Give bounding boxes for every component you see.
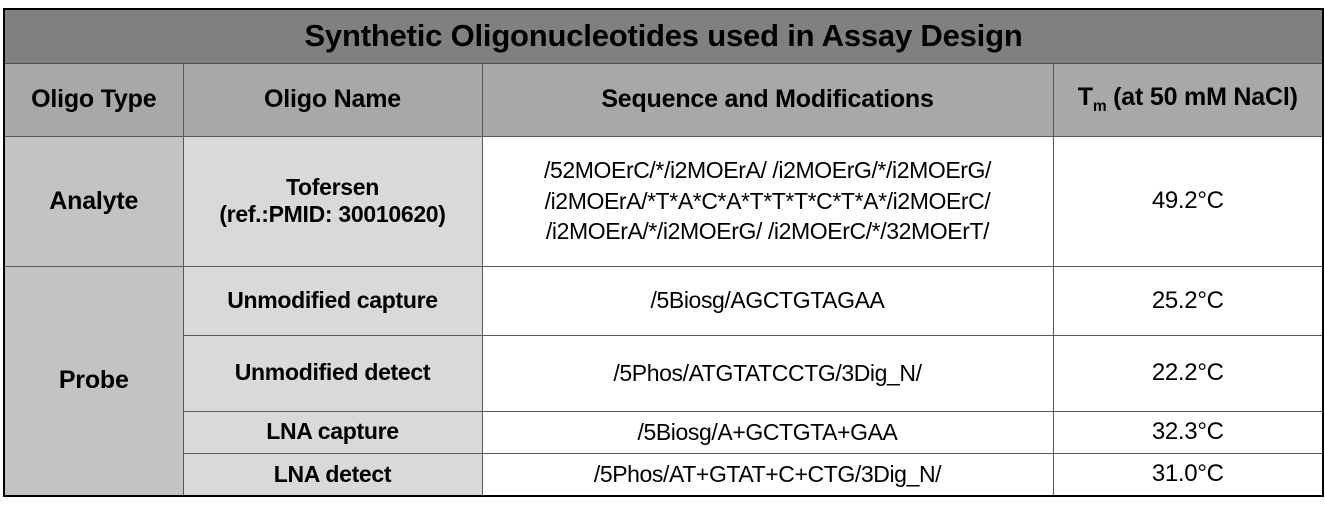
tm-value-lna-detect: 31.0°C <box>1053 453 1323 496</box>
tm-value-unmodified-detect: 22.2°C <box>1053 335 1323 411</box>
oligo-type-analyte: Analyte <box>4 136 183 266</box>
oligo-name-unmodified-capture: Unmodified capture <box>183 266 482 335</box>
table-title: Synthetic Oligonucleotides used in Assay… <box>4 9 1323 63</box>
sequence-lna-capture: /5Biosg/A+GCTGTA+GAA <box>482 411 1053 453</box>
sequence-line-2: /i2MOErA/*T*A*C*A*T*T*T*C*T*A*/i2MOErC/ <box>483 186 1053 216</box>
oligo-name-reference: (ref.:PMID: 30010620) <box>184 201 482 228</box>
tm-subscript: m <box>1093 98 1107 115</box>
column-header-oligo-type: Oligo Type <box>4 63 183 136</box>
sequence-unmodified-capture: /5Biosg/AGCTGTAGAA <box>482 266 1053 335</box>
table-row: Unmodified detect /5Phos/ATGTATCCTG/3Dig… <box>4 335 1323 411</box>
table-row: LNA detect /5Phos/AT+GTAT+C+CTG/3Dig_N/ … <box>4 453 1323 496</box>
tm-symbol: T <box>1078 83 1093 111</box>
sequence-unmodified-detect: /5Phos/ATGTATCCTG/3Dig_N/ <box>482 335 1053 411</box>
oligo-type-probe: Probe <box>4 266 183 496</box>
synthetic-oligonucleotides-table: Synthetic Oligonucleotides used in Assay… <box>3 8 1324 497</box>
sequence-tofersen: /52MOErC/*/i2MOErA/ /i2MOErG/*/i2MOErG/ … <box>482 136 1053 266</box>
oligo-name-unmodified-detect: Unmodified detect <box>183 335 482 411</box>
oligo-name-primary: Tofersen <box>184 174 482 201</box>
table-row: LNA capture /5Biosg/A+GCTGTA+GAA 32.3°C <box>4 411 1323 453</box>
sequence-lna-detect: /5Phos/AT+GTAT+C+CTG/3Dig_N/ <box>482 453 1053 496</box>
table-row: Analyte Tofersen (ref.:PMID: 30010620) /… <box>4 136 1323 266</box>
oligo-table-container: Synthetic Oligonucleotides used in Assay… <box>3 8 1322 497</box>
table-title-row: Synthetic Oligonucleotides used in Assay… <box>4 9 1323 63</box>
oligo-name-lna-detect: LNA detect <box>183 453 482 496</box>
column-header-oligo-name: Oligo Name <box>183 63 482 136</box>
column-header-tm: Tm (at 50 mM NaCl) <box>1053 63 1323 136</box>
sequence-line-3: /i2MOErA/*/i2MOErG/ /i2MOErC/*/32MOErT/ <box>483 216 1053 246</box>
column-header-sequence: Sequence and Modifications <box>482 63 1053 136</box>
tm-value-unmodified-capture: 25.2°C <box>1053 266 1323 335</box>
tm-condition: (at 50 mM NaCl) <box>1106 83 1297 111</box>
tm-value-tofersen: 49.2°C <box>1053 136 1323 266</box>
sequence-line-1: /52MOErC/*/i2MOErA/ /i2MOErG/*/i2MOErG/ <box>483 155 1053 185</box>
oligo-name-tofersen: Tofersen (ref.:PMID: 30010620) <box>183 136 482 266</box>
table-header-row: Oligo Type Oligo Name Sequence and Modif… <box>4 63 1323 136</box>
tm-value-lna-capture: 32.3°C <box>1053 411 1323 453</box>
oligo-name-lna-capture: LNA capture <box>183 411 482 453</box>
table-row: Probe Unmodified capture /5Biosg/AGCTGTA… <box>4 266 1323 335</box>
